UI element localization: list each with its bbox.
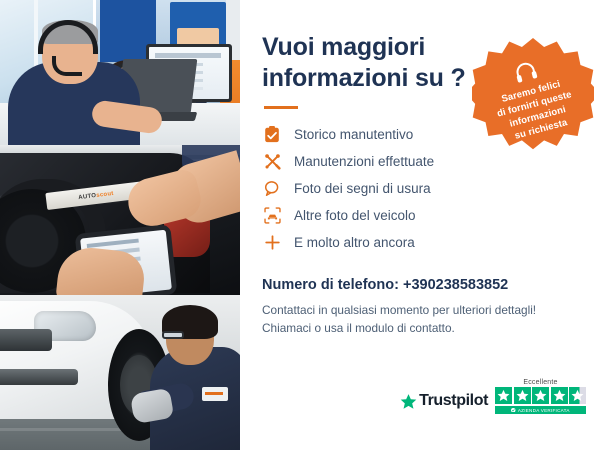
- feature-label: Altre foto del veicolo: [294, 208, 416, 223]
- contact-line-2: Chiamaci o usa il modulo di contatto.: [262, 320, 576, 338]
- star-icon: [495, 387, 512, 404]
- plus-icon: [262, 232, 282, 252]
- trustpilot-brand: Trustpilot: [400, 392, 488, 414]
- phone-number[interactable]: +390238583852: [403, 277, 508, 293]
- lower-grille: [0, 369, 78, 385]
- tools-cross-icon: [262, 151, 282, 171]
- uniform-badge: [202, 387, 228, 401]
- phone-label: Numero di telefono:: [262, 277, 399, 293]
- title-divider: [264, 106, 298, 109]
- feature-label: E molto altro ancora: [294, 235, 415, 250]
- verified-label: AZIENDA VERIFICATA: [518, 408, 570, 413]
- feature-item-foto-segni-usura: Foto dei segni di usura: [262, 175, 576, 201]
- phone-line: Numero di telefono: +390238583852: [262, 277, 576, 293]
- magnifier-icon: [262, 178, 282, 198]
- headset-icon: [512, 59, 538, 84]
- info-badge: Saremo felici di fornirti queste informa…: [472, 38, 594, 160]
- feature-label: Manutenzioni effettuate: [294, 154, 434, 169]
- trustpilot-star-icon: [400, 393, 417, 410]
- ruler-brand-label: AUTOscout: [78, 190, 114, 200]
- feature-item-molto-altro: E molto altro ancora: [262, 229, 576, 255]
- photo-column: AUTOscout: [0, 0, 240, 450]
- feature-label: Foto dei segni di usura: [294, 181, 431, 196]
- car-scan-icon: [262, 205, 282, 225]
- safety-glasses-icon: [162, 331, 184, 339]
- contact-copy: Contattaci in qualsiasi momento per ulte…: [262, 302, 576, 338]
- star-rating: [495, 387, 586, 404]
- star-icon: [551, 387, 568, 404]
- check-circle-icon: [511, 408, 516, 413]
- badge-text: Saremo felici di fornirti queste informa…: [479, 72, 593, 150]
- star-icon: [532, 387, 549, 404]
- promo-banner: AUTOscout: [0, 0, 600, 450]
- tyre-service-photo: [0, 295, 240, 450]
- vehicle-inspection-photo: AUTOscout: [0, 145, 240, 295]
- microphone-boom-icon: [52, 56, 82, 76]
- contact-line-1: Contattaci in qualsiasi momento per ulte…: [262, 302, 576, 320]
- star-icon: [514, 387, 531, 404]
- clipboard-check-icon: [262, 124, 282, 144]
- verified-business-badge: AZIENDA VERIFICATA: [495, 406, 586, 414]
- content-panel: Vuoi maggiori informazioni su ? Saremo f…: [240, 0, 600, 450]
- trustpilot-widget[interactable]: Trustpilot Eccellente: [400, 379, 586, 414]
- trustpilot-rating: Eccellente: [495, 379, 586, 414]
- trustpilot-name: Trustpilot: [419, 392, 488, 410]
- star-icon-half: [569, 387, 586, 404]
- rating-label: Eccellente: [495, 379, 586, 386]
- page-title: Vuoi maggiori informazioni su ?: [262, 32, 477, 93]
- upper-grille: [0, 329, 52, 351]
- feature-label: Storico manutentivo: [294, 127, 413, 142]
- call-center-photo: [0, 0, 240, 145]
- feature-item-altre-foto-veicolo: Altre foto del veicolo: [262, 202, 576, 228]
